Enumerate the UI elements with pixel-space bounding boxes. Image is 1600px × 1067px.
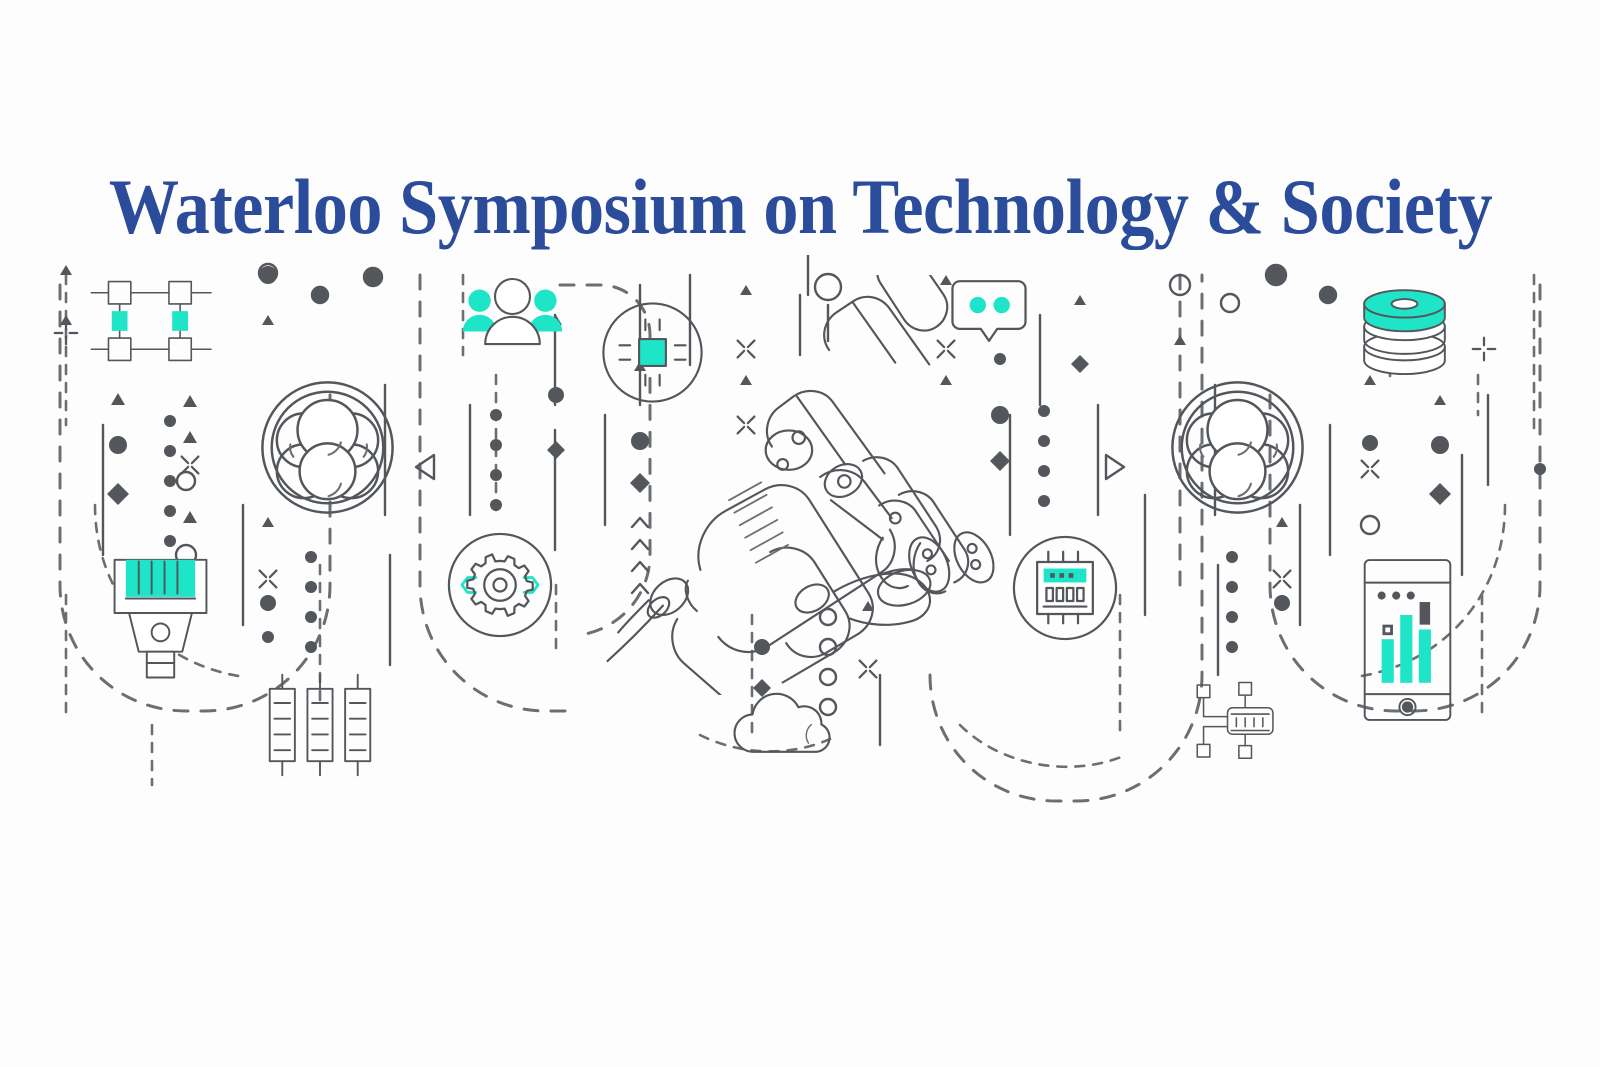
icon-cloud [735, 694, 830, 752]
icon-connector-plug [115, 560, 207, 678]
icon-speech-bubble [952, 281, 1025, 341]
icon-molecule-cluster-right [1172, 382, 1302, 512]
icon-database-stack [1364, 290, 1445, 374]
page-title: Waterloo Symposium on Technology & Socie… [0, 168, 1600, 246]
icon-capacitor-bank [270, 675, 371, 776]
icon-users-group [463, 279, 562, 344]
banner-canvas: Waterloo Symposium on Technology & Socie… [0, 0, 1600, 1067]
page-title-text: Waterloo Symposium on Technology & Socie… [108, 168, 1491, 246]
icon-node-grid [91, 282, 211, 361]
illustration-svg: .ln { fill:none; stroke:#53565A; stroke-… [0, 255, 1600, 815]
icon-cpu-chip [603, 303, 701, 401]
icon-circuit-nodes [1197, 683, 1273, 759]
icon-molecule-cluster-left [262, 382, 392, 512]
icon-phone-chart [1365, 560, 1451, 720]
robotic-hand [608, 255, 1002, 708]
illustration: .ln { fill:none; stroke:#53565A; stroke-… [0, 255, 1600, 815]
icon-server-chip [1014, 537, 1116, 639]
icon-gear-settings [449, 534, 551, 636]
